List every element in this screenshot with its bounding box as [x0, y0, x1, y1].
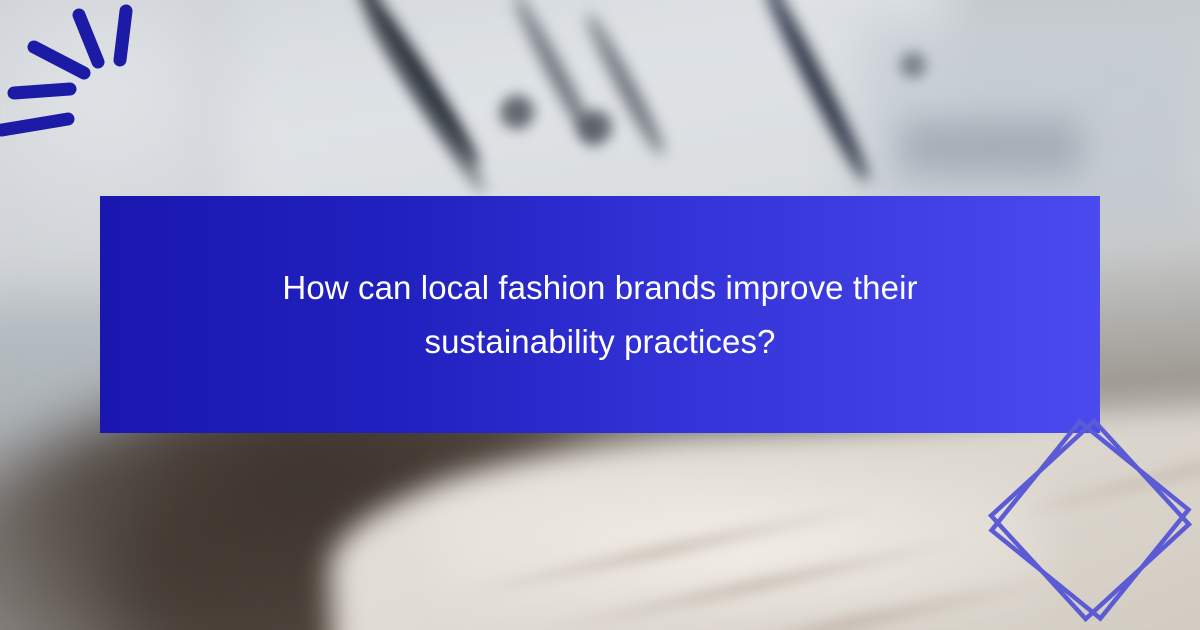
headline-text: How can local fashion brands improve the…	[220, 261, 980, 368]
photo-pen-tip-3	[900, 52, 926, 78]
photo-pen-tip-1	[500, 95, 534, 129]
photo-right-card-mark	[900, 120, 1080, 174]
headline-banner: How can local fashion brands improve the…	[100, 196, 1100, 433]
starburst-icon	[0, 0, 180, 170]
photo-pen-tip-2	[578, 110, 612, 144]
social-card-canvas: How can local fashion brands improve the…	[0, 0, 1200, 630]
rotated-squares-icon	[975, 415, 1200, 630]
